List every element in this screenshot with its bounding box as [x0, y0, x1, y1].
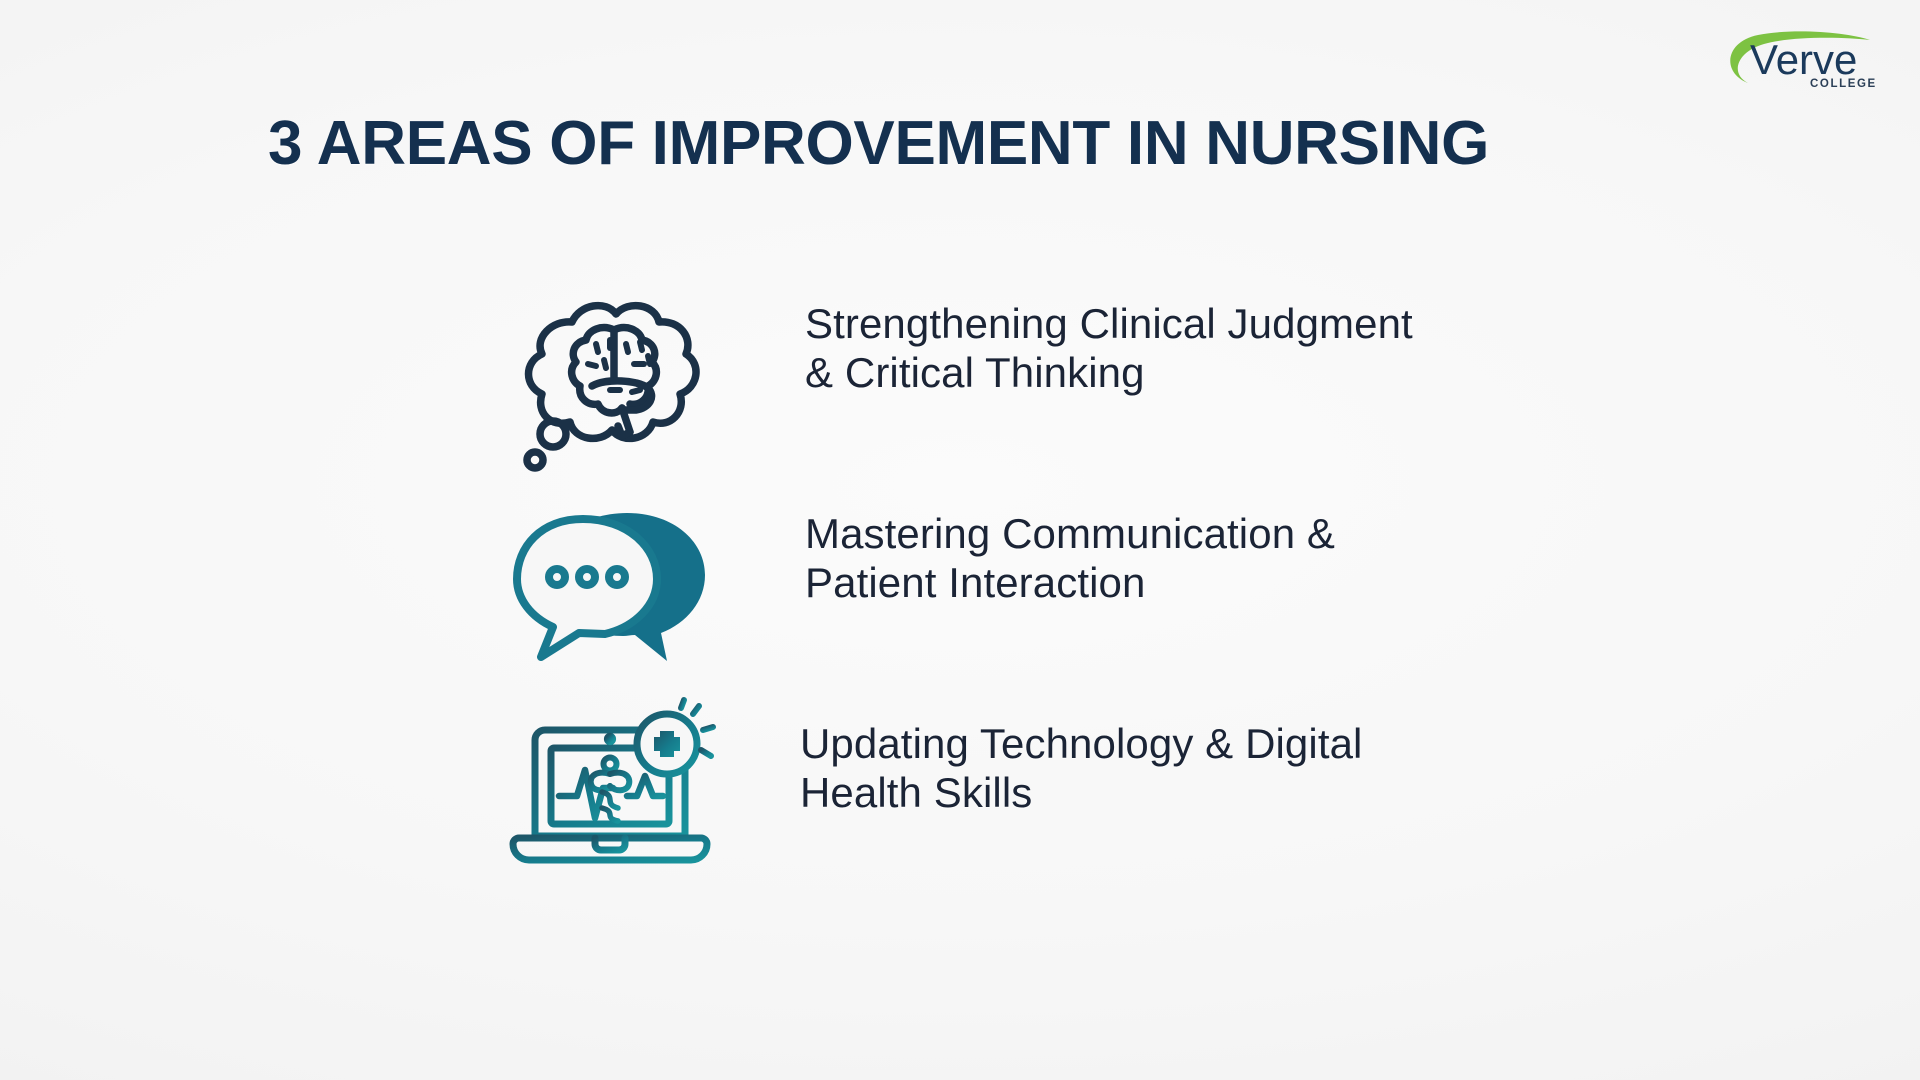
- list-item: Mastering Communication & Patient Intera…: [0, 470, 1920, 700]
- logo-svg: Verve COLLEGE: [1718, 26, 1878, 92]
- laptop-medical-icon: [495, 672, 725, 902]
- slide-root: Verve COLLEGE 3 AREAS OF IMPROVEMENT IN …: [0, 0, 1920, 1080]
- list-item-label: Strengthening Clinical Judgment & Critic…: [805, 300, 1413, 397]
- logo-wordmark: Verve: [1750, 36, 1857, 83]
- speech-bubbles-icon: [495, 470, 725, 700]
- page-title: 3 AREAS OF IMPROVEMENT IN NURSING: [268, 108, 1489, 179]
- logo-subtitle: COLLEGE: [1810, 78, 1877, 90]
- list-item-label: Mastering Communication & Patient Intera…: [805, 510, 1335, 607]
- medical-cross-badge-icon: [637, 700, 713, 774]
- list-item: Strengthening Clinical Judgment & Critic…: [0, 262, 1920, 492]
- list-item-label: Updating Technology & Digital Health Ski…: [800, 720, 1362, 817]
- verve-college-logo[interactable]: Verve COLLEGE: [1718, 26, 1878, 92]
- brain-thought-bubble-icon: [495, 262, 725, 492]
- list-item: Updating Technology & Digital Health Ski…: [0, 672, 1920, 902]
